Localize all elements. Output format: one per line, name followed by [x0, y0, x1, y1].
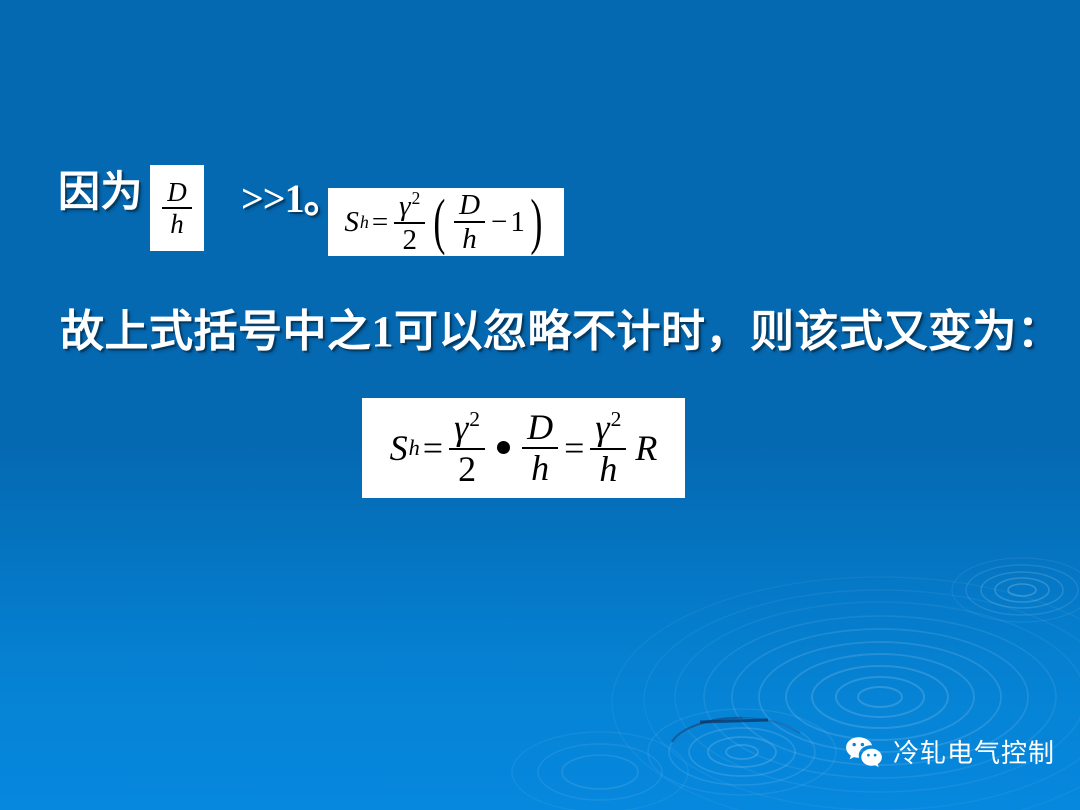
- parenthesis-close-icon: ): [530, 203, 543, 242]
- math-equation-1: Sh = γ2 2 ( D h − 1 ): [344, 189, 547, 255]
- lhs-subscript: h: [408, 435, 420, 461]
- ripple-small-top-right: [952, 558, 1080, 622]
- lhs-variable: S: [390, 427, 408, 469]
- equals-sign-2: =: [561, 427, 587, 469]
- fraction-denominator: h: [165, 209, 189, 238]
- fraction-d-over-h: D h: [454, 190, 485, 254]
- ripple-far-left: [512, 732, 688, 810]
- rhs-variable-r: R: [629, 427, 657, 469]
- watermark-label: 冷轧电气控制: [893, 733, 1055, 770]
- fraction-denominator: h: [526, 449, 554, 487]
- gamma-symbol: γ: [399, 190, 410, 222]
- line1-label-text: 因为: [58, 172, 143, 214]
- presentation-slide: 因为 D h >>1。 Sh = γ2 2 ( D h − 1 ): [0, 0, 1080, 810]
- fraction: D h: [162, 178, 192, 238]
- formula-box-sh-with-parenthesis: Sh = γ2 2 ( D h − 1 ): [328, 188, 564, 256]
- fraction-d-over-h: D h: [522, 409, 558, 488]
- math-fraction-d-h: D h: [159, 178, 195, 238]
- line2-description-text: 故上式括号中之1可以忽略不计时，则该式又变为：: [60, 308, 1062, 356]
- gamma-exponent: 2: [411, 188, 421, 208]
- ripple-left: [648, 709, 836, 795]
- constant-one: 1: [510, 206, 525, 239]
- watermark: 冷轧电气控制: [845, 733, 1055, 770]
- fraction-denominator: h: [457, 223, 482, 254]
- wechat-icon: [845, 736, 883, 768]
- fraction-gamma-squared-over-2: γ2 2: [394, 189, 425, 255]
- fraction-denominator: 2: [453, 450, 481, 488]
- fraction-denominator: 2: [397, 224, 422, 255]
- fraction-numerator: γ2: [394, 189, 425, 224]
- gamma-exponent: 2: [610, 407, 622, 431]
- lhs-subscript: h: [359, 212, 369, 233]
- fraction-denominator: h: [594, 450, 622, 488]
- fraction-numerator: D: [162, 178, 192, 209]
- fraction-box-d-over-h: D h: [150, 165, 204, 251]
- fraction-numerator: γ2: [449, 408, 485, 450]
- parenthesis-open-icon: (: [433, 203, 446, 242]
- lhs-variable: S: [344, 206, 359, 239]
- equals-sign: =: [369, 206, 391, 239]
- gamma-symbol: γ: [454, 407, 468, 447]
- equals-sign-1: =: [420, 427, 446, 469]
- gamma-symbol: γ: [595, 407, 609, 447]
- fraction-gamma-squared-over-2: γ2 2: [449, 408, 485, 488]
- multiplication-dot-icon: [497, 441, 510, 454]
- fraction-gamma-squared-over-h: γ2 h: [590, 408, 626, 488]
- fraction-numerator: γ2: [590, 408, 626, 450]
- minus-sign: −: [488, 206, 510, 239]
- gamma-exponent: 2: [468, 407, 480, 431]
- ripple-highlight-band: [612, 577, 1080, 810]
- math-equation-2: Sh = γ2 2 D h = γ2 h R: [390, 408, 658, 488]
- fraction-numerator: D: [522, 409, 558, 449]
- fraction-numerator: D: [454, 190, 485, 223]
- formula-box-sh-simplified: Sh = γ2 2 D h = γ2 h R: [362, 398, 685, 498]
